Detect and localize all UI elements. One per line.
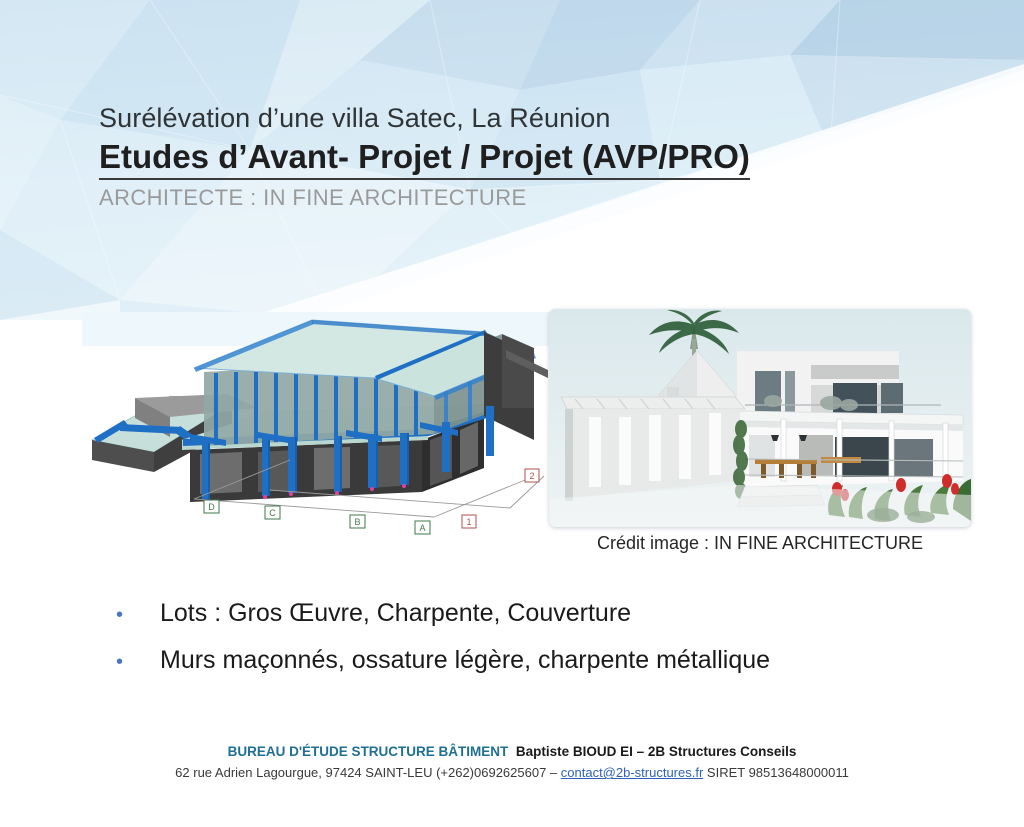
architectural-render-photo [549, 309, 971, 527]
footer-company-line: BUREAU D'ÉTUDE STRUCTURE BÂTIMENT Baptis… [0, 742, 1024, 762]
footer-siret: SIRET 98513648000011 [703, 765, 849, 780]
svg-text:D: D [208, 502, 215, 512]
list-item: • Murs maçonnés, ossature légère, charpe… [116, 645, 956, 676]
svg-text:1: 1 [466, 517, 471, 527]
list-item: • Lots : Gros Œuvre, Charpente, Couvertu… [116, 598, 956, 629]
footer-contact-line: 62 rue Adrien Lagourgue, 97424 SAINT-LEU… [0, 763, 1024, 783]
svg-text:2: 2 [529, 471, 534, 481]
svg-text:B: B [354, 517, 360, 527]
bullet-text: Lots : Gros Œuvre, Charpente, Couverture [160, 598, 631, 629]
photo-credit: Crédit image : IN FINE ARCHITECTURE [549, 533, 971, 554]
kicker-line: Surélévation d’une villa Satec, La Réuni… [99, 103, 919, 135]
footer-company-name: Baptiste BIOUD EI – 2B Structures Consei… [516, 744, 797, 759]
svg-text:C: C [269, 508, 276, 518]
bullet-dot-icon: • [116, 603, 160, 625]
architect-subtitle: ARCHITECTE : IN FINE ARCHITECTURE [99, 184, 919, 212]
footer: BUREAU D'ÉTUDE STRUCTURE BÂTIMENT Baptis… [0, 742, 1024, 783]
bullet-dot-icon: • [116, 650, 160, 672]
slide: Surélévation d’une villa Satec, La Réuni… [0, 0, 1024, 827]
page-title: Etudes d’Avant- Projet / Projet (AVP/PRO… [99, 137, 750, 180]
svg-text:A: A [419, 523, 425, 533]
header: Surélévation d’une villa Satec, La Réuni… [99, 103, 919, 212]
footer-activity-label: BUREAU D'ÉTUDE STRUCTURE BÂTIMENT [228, 744, 509, 759]
structural-model-figure: D C B A 1 2 [82, 312, 550, 540]
bullet-text: Murs maçonnés, ossature légère, charpent… [160, 645, 770, 676]
bullet-list: • Lots : Gros Œuvre, Charpente, Couvertu… [116, 598, 956, 693]
footer-email-link[interactable]: contact@2b-structures.fr [561, 765, 704, 780]
footer-address: 62 rue Adrien Lagourgue, 97424 SAINT-LEU… [175, 765, 561, 780]
